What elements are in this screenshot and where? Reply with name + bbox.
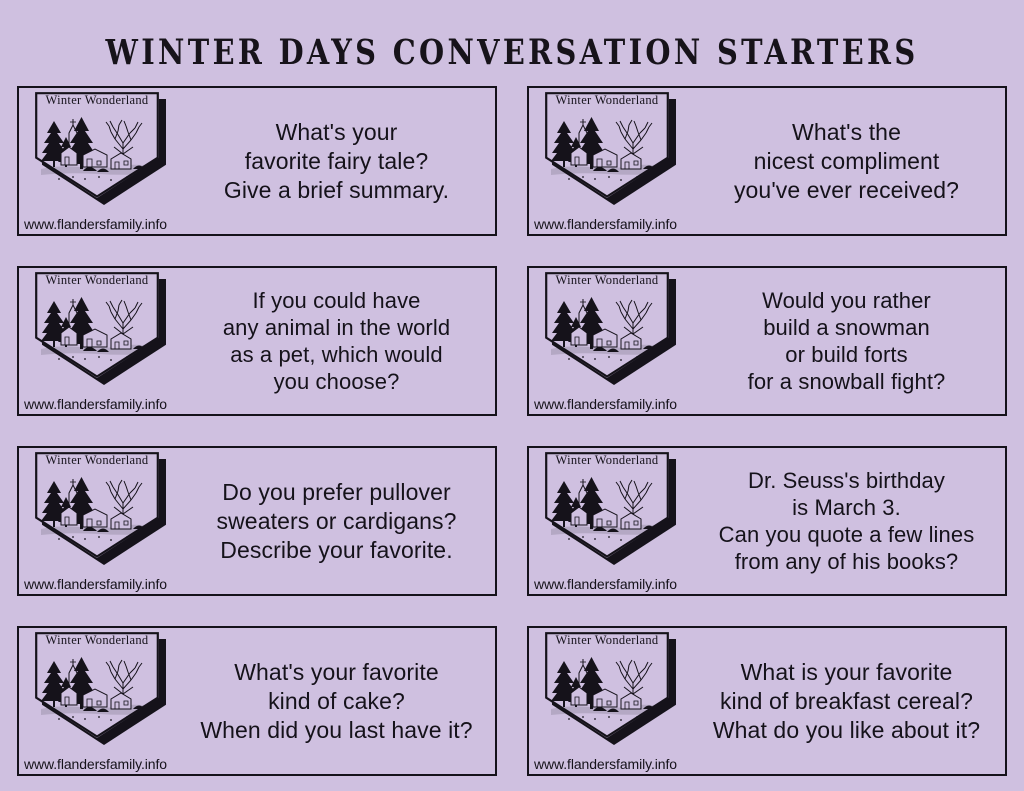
- winter-wonderland-emblem: Winter Wonderland: [545, 632, 675, 744]
- prompt-line-1: What's the: [792, 118, 901, 147]
- winter-wonderland-emblem: Winter Wonderland: [545, 92, 675, 204]
- prompt-line-4: for a snowball fight?: [748, 368, 946, 395]
- conversation-card-2[interactable]: Winter Wonderland What's thenicest compl…: [527, 86, 1007, 236]
- prompt-line-1: What's your favorite: [234, 658, 439, 687]
- card-emblem-column: Winter Wonderland: [19, 268, 184, 414]
- prompt-line-2: kind of breakfast cereal?: [720, 687, 973, 716]
- prompt-line-1: What's your: [276, 118, 398, 147]
- prompt-line-3: Describe your favorite.: [220, 536, 452, 565]
- emblem-title: Winter Wonderland: [35, 273, 159, 288]
- card-emblem-column: Winter Wonderland: [19, 628, 184, 774]
- card-footer-url: www.flandersfamily.info: [24, 216, 167, 232]
- prompt-line-3: What do you like about it?: [713, 716, 980, 745]
- card-footer-url: www.flandersfamily.info: [534, 216, 677, 232]
- card-prompt-text: What is your favoritekind of breakfast c…: [694, 628, 1005, 774]
- prompt-line-4: you choose?: [274, 368, 400, 395]
- emblem-title: Winter Wonderland: [35, 633, 159, 648]
- emblem-title: Winter Wonderland: [545, 93, 669, 108]
- winter-wonderland-emblem: Winter Wonderland: [35, 272, 165, 384]
- prompt-line-1: If you could have: [252, 287, 420, 314]
- prompt-line-2: kind of cake?: [268, 687, 405, 716]
- card-prompt-text: Dr. Seuss's birthdayis March 3.Can you q…: [694, 448, 1005, 594]
- card-emblem-column: Winter Wonderland: [529, 88, 694, 234]
- conversation-card-3[interactable]: Winter Wonderland If you could haveany a…: [17, 266, 497, 416]
- prompt-line-1: Would you rather: [762, 287, 931, 314]
- card-emblem-column: Winter Wonderland: [529, 448, 694, 594]
- emblem-title: Winter Wonderland: [35, 453, 159, 468]
- prompt-line-3: you've ever received?: [734, 176, 959, 205]
- page-title: WINTER DAYS CONVERSATION STARTERS: [36, 0, 988, 77]
- winter-wonderland-emblem: Winter Wonderland: [35, 632, 165, 744]
- card-emblem-column: Winter Wonderland: [19, 88, 184, 234]
- card-prompt-text: Would you ratherbuild a snowmanor build …: [694, 268, 1005, 414]
- card-prompt-text: What's your favoritekind of cake?When di…: [184, 628, 495, 774]
- conversation-card-1[interactable]: Winter Wonderland What's yourfavorite fa…: [17, 86, 497, 236]
- prompt-line-3: Can you quote a few lines: [719, 521, 975, 548]
- conversation-card-5[interactable]: Winter Wonderland Do you prefer pullover…: [17, 446, 497, 596]
- card-emblem-column: Winter Wonderland: [19, 448, 184, 594]
- card-footer-url: www.flandersfamily.info: [534, 756, 677, 772]
- prompt-line-2: any animal in the world: [223, 314, 450, 341]
- card-emblem-column: Winter Wonderland: [529, 268, 694, 414]
- card-prompt-text: What's yourfavorite fairy tale?Give a br…: [184, 88, 495, 234]
- prompt-line-3: Give a brief summary.: [224, 176, 449, 205]
- worksheet-page: { "page": { "title": "WINTER DAYS CONVER…: [0, 0, 1024, 791]
- prompt-line-2: nicest compliment: [754, 147, 940, 176]
- card-footer-url: www.flandersfamily.info: [24, 756, 167, 772]
- card-prompt-text: If you could haveany animal in the world…: [184, 268, 495, 414]
- conversation-card-4[interactable]: Winter Wonderland Would you ratherbuild …: [527, 266, 1007, 416]
- prompt-line-3: When did you last have it?: [200, 716, 472, 745]
- prompt-line-3: or build forts: [785, 341, 907, 368]
- conversation-card-grid: Winter Wonderland What's yourfavorite fa…: [17, 86, 1007, 776]
- conversation-card-8[interactable]: Winter Wonderland What is your favoritek…: [527, 626, 1007, 776]
- emblem-title: Winter Wonderland: [35, 93, 159, 108]
- prompt-line-2: favorite fairy tale?: [245, 147, 429, 176]
- prompt-line-1: What is your favorite: [741, 658, 953, 687]
- conversation-card-7[interactable]: Winter Wonderland What's your favoriteki…: [17, 626, 497, 776]
- emblem-title: Winter Wonderland: [545, 633, 669, 648]
- card-footer-url: www.flandersfamily.info: [534, 576, 677, 592]
- prompt-line-1: Do you prefer pullover: [222, 478, 450, 507]
- prompt-line-1: Dr. Seuss's birthday: [748, 467, 945, 494]
- winter-wonderland-emblem: Winter Wonderland: [545, 272, 675, 384]
- emblem-title: Winter Wonderland: [545, 453, 669, 468]
- prompt-line-4: from any of his books?: [735, 548, 959, 575]
- winter-wonderland-emblem: Winter Wonderland: [35, 452, 165, 564]
- prompt-line-2: sweaters or cardigans?: [217, 507, 457, 536]
- card-footer-url: www.flandersfamily.info: [24, 396, 167, 412]
- card-footer-url: www.flandersfamily.info: [24, 576, 167, 592]
- prompt-line-3: as a pet, which would: [230, 341, 442, 368]
- card-emblem-column: Winter Wonderland: [529, 628, 694, 774]
- prompt-line-2: build a snowman: [763, 314, 930, 341]
- prompt-line-2: is March 3.: [792, 494, 901, 521]
- emblem-title: Winter Wonderland: [545, 273, 669, 288]
- winter-wonderland-emblem: Winter Wonderland: [35, 92, 165, 204]
- card-footer-url: www.flandersfamily.info: [534, 396, 677, 412]
- card-prompt-text: What's thenicest complimentyou've ever r…: [694, 88, 1005, 234]
- winter-wonderland-emblem: Winter Wonderland: [545, 452, 675, 564]
- conversation-card-6[interactable]: Winter Wonderland Dr. Seuss's birthdayis…: [527, 446, 1007, 596]
- card-prompt-text: Do you prefer pulloversweaters or cardig…: [184, 448, 495, 594]
